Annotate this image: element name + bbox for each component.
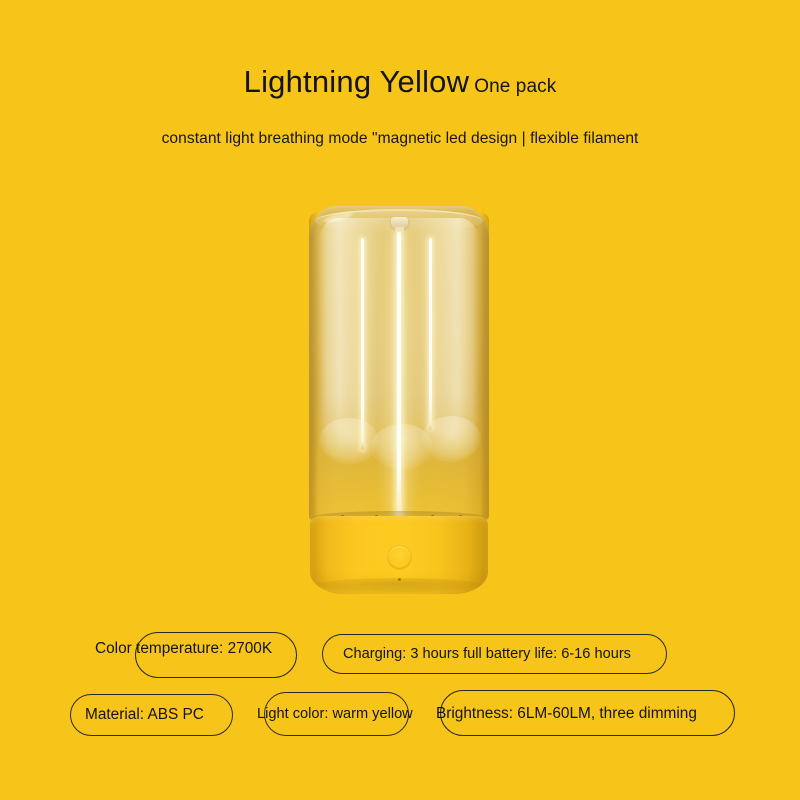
product-title: Lightning Yellow: [244, 64, 470, 99]
diffuser-lobe-left: [319, 418, 379, 464]
feature-label-light-color: Light color: warm yellow: [257, 707, 413, 722]
glass-edge-left: [309, 212, 318, 520]
status-led-icon: [398, 578, 401, 581]
feature-label-brightness: Brightness: 6LM-60LM, three dimming: [436, 706, 697, 721]
glass-edge-right: [480, 212, 489, 520]
feature-label-color-temperature: Color temperature: 2700K: [95, 641, 272, 656]
power-button-icon[interactable]: [388, 546, 411, 569]
page-title: Lightning YellowOne pack: [0, 66, 800, 97]
feature-label-charging: Charging: 3 hours full battery life: 6-1…: [343, 647, 631, 662]
led-filament-center: [397, 232, 401, 526]
pack-quantity-label: One pack: [474, 76, 556, 97]
led-filament-left: [361, 238, 364, 450]
product-image-lamp: [309, 206, 489, 594]
led-filament-right: [429, 238, 432, 430]
product-subtitle: constant light breathing mode "magnetic …: [0, 130, 800, 148]
feature-label-material: Material: ABS PC: [85, 707, 204, 722]
product-banner: Lightning YellowOne pack constant light …: [0, 0, 800, 800]
